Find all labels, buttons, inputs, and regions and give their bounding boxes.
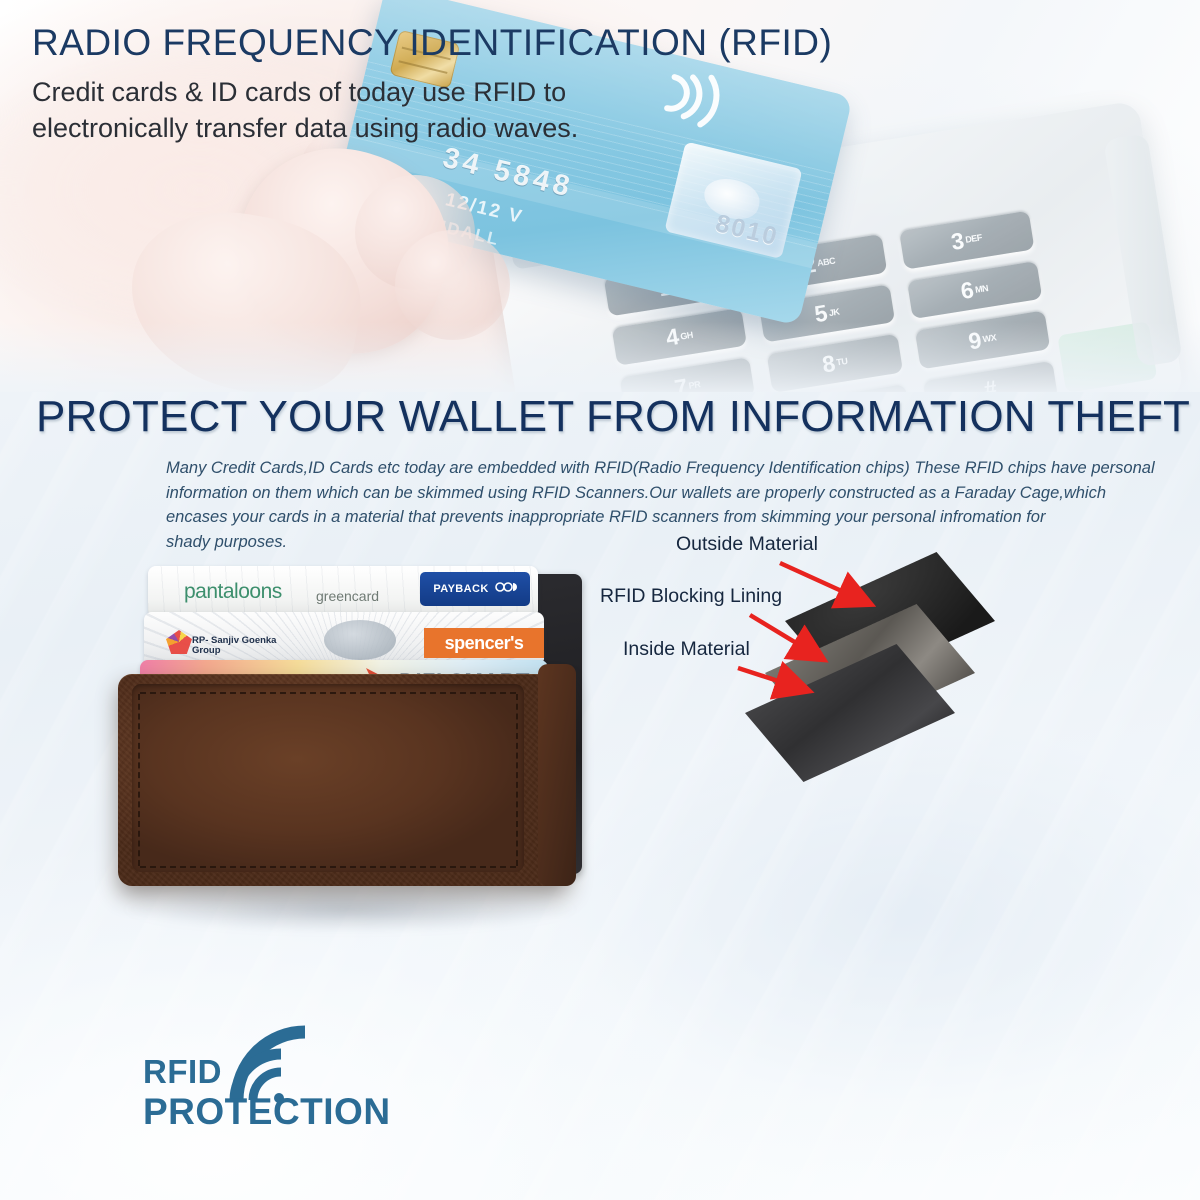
payback-label: PAYBACK: [433, 583, 488, 595]
banner-fade: [0, 322, 1200, 392]
card-emblem: [324, 620, 396, 660]
wallet-card-spencers: RP- Sanjiv Goenka Group spencer's: [144, 612, 544, 662]
wallet-stitching: [516, 694, 518, 866]
spencers-label: spencer's: [445, 633, 524, 654]
key-digit: 3: [949, 227, 965, 256]
wallet-front-pocket: [132, 684, 524, 872]
wallet-card-pantaloons: pantaloons greencard PAYBACK: [148, 566, 538, 614]
subtitle-line-2: electronically transfer data using radio…: [32, 110, 578, 146]
key-digit: 6: [959, 277, 975, 306]
wallet-stitching: [140, 866, 516, 868]
paragraph-line-2: information on them which can be skimmed…: [166, 481, 1066, 506]
infographic-page: 1QZ 2ABC 3DEF 4GH 5JK 6MN 7PR 8TU 9WX * …: [0, 0, 1200, 1200]
key-letters: MN: [974, 284, 988, 294]
paragraph-line-3: encases your cards in a material that pr…: [166, 505, 1066, 530]
page-subtitle: Credit cards & ID cards of today use RFI…: [32, 74, 578, 146]
payback-icon: [495, 580, 517, 598]
paragraph-line-4: shady purposes.: [166, 530, 1066, 555]
payback-badge: PAYBACK: [420, 572, 530, 606]
label-outside-material: Outside Material: [676, 533, 818, 556]
spencers-badge: spencer's: [424, 628, 544, 658]
section-heading: PROTECT YOUR WALLET FROM INFORMATION THE…: [36, 392, 1166, 442]
wallet-shadow: [124, 886, 576, 932]
label-inside-material: Inside Material: [623, 638, 750, 661]
logo-text: RFID PROTECTION: [143, 1052, 391, 1132]
material-layers-diagram: [745, 552, 1045, 762]
wallet-side-edge: [538, 664, 576, 886]
key-letters: DEF: [965, 234, 983, 244]
wallet-leather-body: [118, 674, 570, 886]
keypad-key: 6MN: [907, 261, 1043, 320]
subtitle-line-1: Credit cards & ID cards of today use RFI…: [32, 74, 578, 110]
key-letters: JK: [828, 307, 840, 317]
page-title: RADIO FREQUENCY IDENTIFICATION (RFID): [32, 22, 832, 64]
rfid-protection-logo: RFID PROTECTION: [143, 1024, 373, 1124]
wallet-stitching: [140, 692, 516, 694]
logo-line-1: RFID: [143, 1052, 391, 1092]
rpsg-line2: Group: [192, 645, 221, 656]
logo-line-2: PROTECTION: [143, 1092, 391, 1132]
keypad-key: 3DEF: [899, 211, 1035, 270]
section-paragraph: Many Credit Cards,ID Cards etc today are…: [166, 456, 1066, 554]
wallet-stitching: [138, 694, 140, 866]
card-brand-label: RP- Sanjiv Goenka Group: [192, 636, 276, 656]
label-rfid-blocking-lining: RFID Blocking Lining: [600, 585, 782, 608]
card-secondary-label: greencard: [316, 588, 379, 604]
card-brand-label: pantaloons: [184, 580, 282, 604]
paragraph-line-1: Many Credit Cards,ID Cards etc today are…: [166, 456, 1066, 481]
wallet-photo: pantaloons greencard PAYBACK RP- Sanjiv …: [118, 556, 588, 928]
key-letters: ABC: [817, 257, 836, 268]
